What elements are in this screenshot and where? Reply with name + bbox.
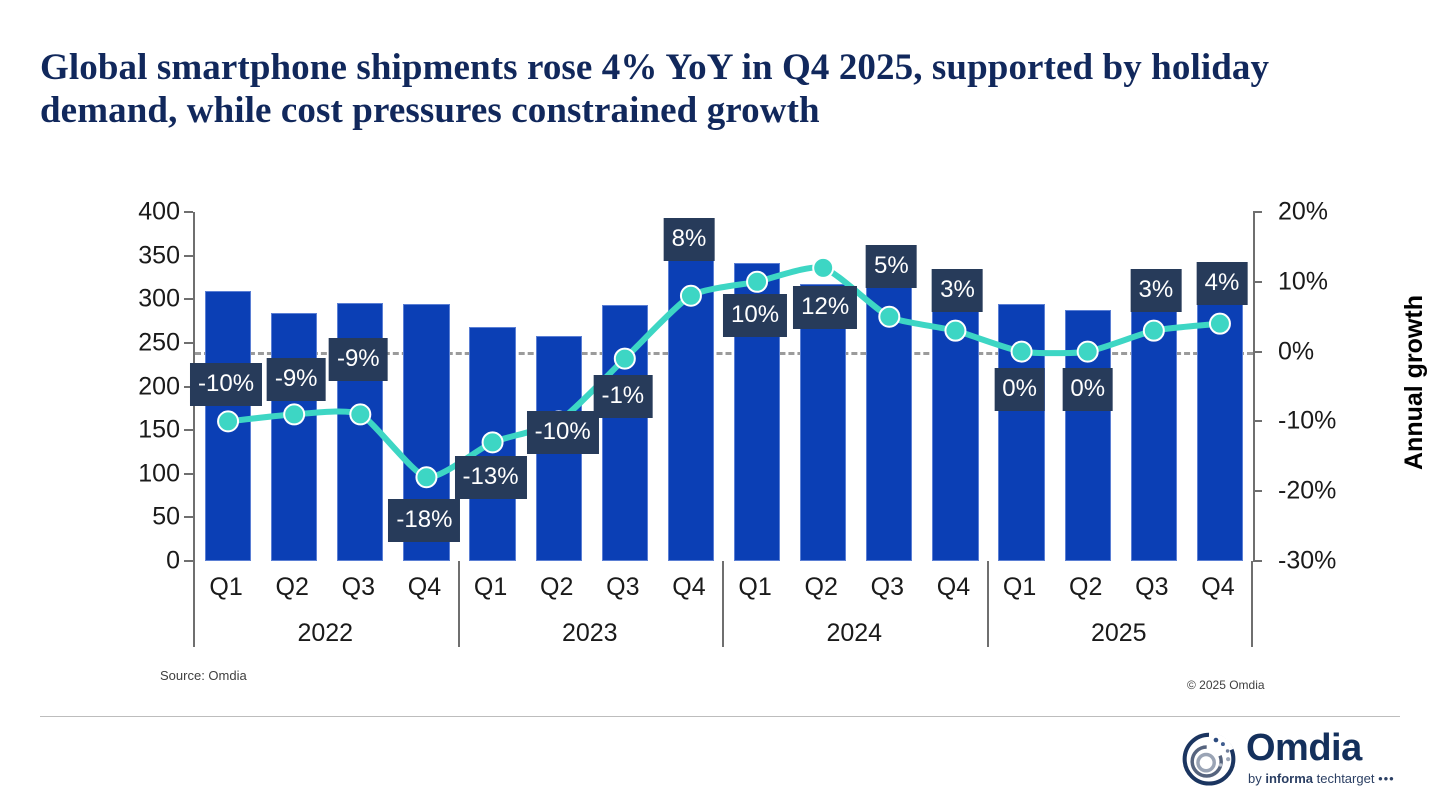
page-title: Global smartphone shipments rose 4% YoY … xyxy=(40,46,1400,133)
y-axis-tick-label: 0 xyxy=(90,547,180,576)
growth-data-label: -18% xyxy=(388,499,460,542)
x-axis-quarter-label: Q3 xyxy=(871,573,904,602)
x-axis-quarter-label: Q2 xyxy=(1069,573,1102,602)
line-marker xyxy=(813,258,833,278)
y-axis-tick-mark xyxy=(184,560,193,562)
x-axis-quarter-label: Q1 xyxy=(474,573,507,602)
growth-data-label: -9% xyxy=(329,338,388,381)
plot-area: -10%-9%-9%-18%-13%-10%-1%8%10%12%5%3%0%0… xyxy=(193,212,1255,561)
y-axis-tick-label: 400 xyxy=(90,198,180,227)
footer-divider xyxy=(40,716,1400,717)
x-axis-quarter-label: Q1 xyxy=(738,573,771,602)
omdia-logo-tagline: by informa techtarget ••• xyxy=(1248,771,1395,786)
line-marker xyxy=(879,307,899,327)
line-marker xyxy=(1012,342,1032,362)
tagline-dots: ••• xyxy=(1378,771,1395,786)
y2-axis-tick-label: -30% xyxy=(1278,547,1388,576)
y-axis-tick-mark xyxy=(184,516,193,518)
growth-data-label: 10% xyxy=(723,294,787,337)
line-marker xyxy=(350,404,370,424)
y-axis-tick-label: 250 xyxy=(90,328,180,357)
x-axis-quarter-label: Q2 xyxy=(540,573,573,602)
tagline-prefix: by xyxy=(1248,771,1265,786)
omdia-logomark-icon xyxy=(1180,729,1238,787)
line-marker xyxy=(218,411,238,431)
source-note: Source: Omdia xyxy=(160,668,247,683)
y2-axis-tick-label: 10% xyxy=(1278,267,1388,296)
x-axis-quarter-label: Q2 xyxy=(276,573,309,602)
y-axis-tick-label: 200 xyxy=(90,372,180,401)
y2-axis-title: Annual growth xyxy=(1400,295,1429,470)
y-axis-tick-label: 100 xyxy=(90,459,180,488)
y2-axis-tick-label: 20% xyxy=(1278,198,1388,227)
growth-data-label: 5% xyxy=(866,245,917,288)
line-marker xyxy=(1210,314,1230,334)
x-axis-group-divider xyxy=(987,561,989,647)
y-axis-tick-mark xyxy=(184,211,193,213)
tagline-bold: informa xyxy=(1265,771,1313,786)
line-marker xyxy=(284,404,304,424)
line-marker xyxy=(681,286,701,306)
growth-data-label: 12% xyxy=(793,286,857,329)
line-marker xyxy=(1078,342,1098,362)
growth-data-label: -10% xyxy=(190,363,262,406)
x-axis-quarter-label: Q3 xyxy=(606,573,639,602)
x-axis-quarter-label: Q4 xyxy=(937,573,970,602)
y2-axis-tick-label: -20% xyxy=(1278,477,1388,506)
x-axis-group-divider xyxy=(458,561,460,647)
x-axis-quarter-label: Q3 xyxy=(342,573,375,602)
growth-data-label: 8% xyxy=(664,218,715,261)
x-axis: Q1Q2Q3Q4Q1Q2Q3Q4Q1Q2Q3Q4Q1Q2Q3Q420222023… xyxy=(193,561,1251,647)
growth-data-label: -13% xyxy=(455,456,527,499)
y-axis-tick-mark xyxy=(184,298,193,300)
x-axis-year-label: 2022 xyxy=(297,619,353,648)
chart-area: Shipments (millions) Annual growth 05010… xyxy=(0,180,1440,650)
x-axis-quarter-label: Q1 xyxy=(209,573,242,602)
y-axis-tick-label: 350 xyxy=(90,241,180,270)
y-axis-tick-mark xyxy=(184,342,193,344)
line-marker xyxy=(483,432,503,452)
y-axis-tick-label: 150 xyxy=(90,416,180,445)
line-marker xyxy=(747,272,767,292)
y-axis-tick-mark xyxy=(184,429,193,431)
x-axis-group-divider xyxy=(193,561,195,647)
growth-data-label: -10% xyxy=(527,411,599,454)
growth-data-label: -9% xyxy=(267,358,326,401)
growth-data-label: -1% xyxy=(593,375,652,418)
x-axis-quarter-label: Q4 xyxy=(1201,573,1234,602)
omdia-logo: Omdia by informa techtarget ••• xyxy=(1180,727,1400,789)
x-axis-year-label: 2024 xyxy=(826,619,882,648)
growth-data-label: 3% xyxy=(1130,269,1181,312)
growth-data-label: 4% xyxy=(1197,262,1248,305)
copyright-note: © 2025 Omdia xyxy=(1187,678,1265,692)
y2-axis-tick-label: -10% xyxy=(1278,407,1388,436)
tagline-suffix: techtarget xyxy=(1313,771,1374,786)
y-axis-tick-mark xyxy=(184,473,193,475)
x-axis-quarter-label: Q4 xyxy=(672,573,705,602)
line-marker xyxy=(416,467,436,487)
x-axis-group-divider xyxy=(722,561,724,647)
growth-data-label: 3% xyxy=(932,269,983,312)
y-axis-tick-mark xyxy=(184,255,193,257)
x-axis-group-divider xyxy=(1251,561,1253,647)
y2-axis-tick-label: 0% xyxy=(1278,337,1388,366)
x-axis-quarter-label: Q3 xyxy=(1135,573,1168,602)
line-marker xyxy=(1144,321,1164,341)
x-axis-quarter-label: Q2 xyxy=(805,573,838,602)
growth-data-label: 0% xyxy=(994,368,1045,411)
x-axis-year-label: 2025 xyxy=(1091,619,1147,648)
growth-data-label: 0% xyxy=(1062,368,1113,411)
x-axis-quarter-label: Q1 xyxy=(1003,573,1036,602)
x-axis-year-label: 2023 xyxy=(562,619,618,648)
y-axis-tick-label: 300 xyxy=(90,285,180,314)
line-marker xyxy=(945,321,965,341)
omdia-logo-text: Omdia xyxy=(1246,729,1362,767)
x-axis-quarter-label: Q4 xyxy=(408,573,441,602)
y-axis-tick-label: 50 xyxy=(90,503,180,532)
line-marker xyxy=(615,349,635,369)
